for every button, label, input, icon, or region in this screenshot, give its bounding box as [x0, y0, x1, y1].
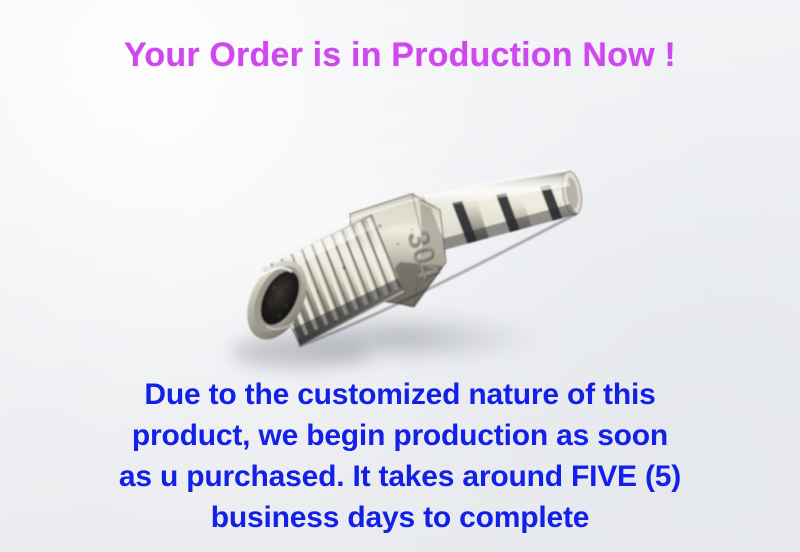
barb-rings	[418, 185, 568, 256]
notice-line-3: as u purchased. It takes around FIVE (5)	[0, 456, 800, 497]
production-notice: Due to the customized nature of this pro…	[0, 374, 800, 538]
threaded-end-bore	[235, 251, 319, 349]
notice-line-2: product, we begin production as soon	[0, 415, 800, 456]
material-grade-stamp: 304	[400, 226, 446, 284]
product-promo-image: Your Order is in Production Now !	[0, 0, 800, 552]
svg-text:304: 304	[399, 225, 445, 283]
barb-shoulder	[406, 196, 440, 254]
product-shadow	[230, 312, 548, 368]
threaded-male-end	[262, 210, 406, 348]
notice-line-1: Due to the customized nature of this	[0, 374, 800, 415]
notice-line-4: business days to complete	[0, 497, 800, 538]
barbed-hose-end	[418, 170, 584, 256]
page-title: Your Order is in Production Now !	[0, 36, 800, 75]
hex-wrench-flats: 304 304	[350, 192, 448, 308]
